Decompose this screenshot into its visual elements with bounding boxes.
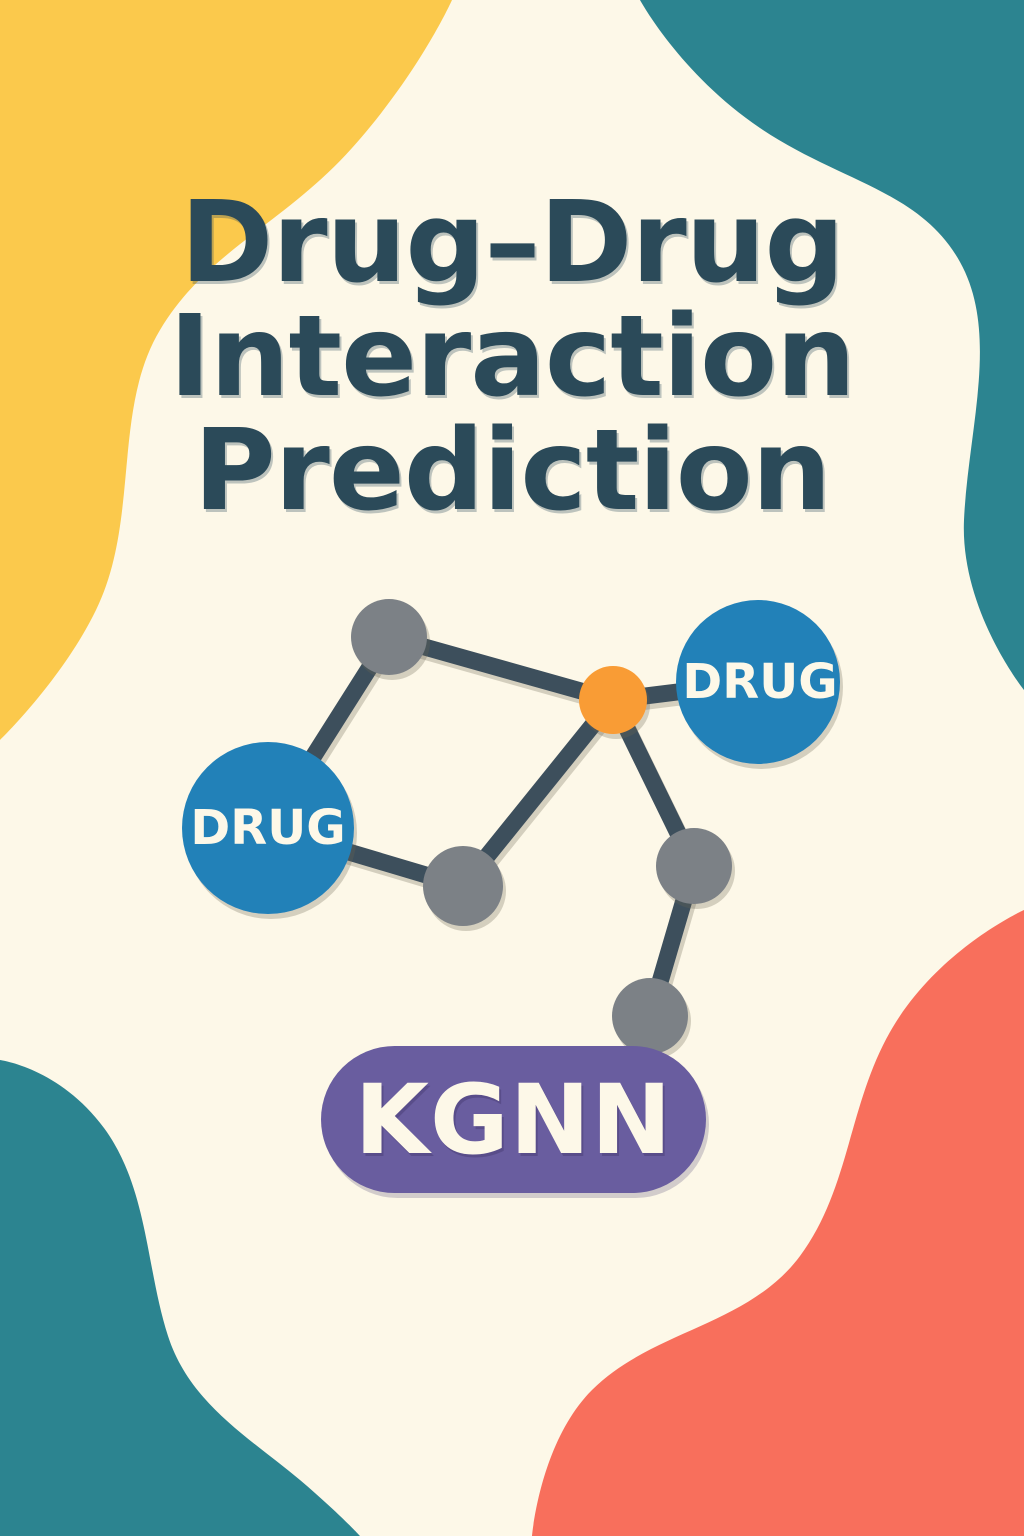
drug-node-left-label: DRUG	[190, 800, 345, 856]
poster-canvas: Drug–Drug Interaction Prediction	[0, 0, 1024, 1536]
entity-node-lower-left[interactable]	[423, 846, 503, 926]
entity-node-right[interactable]	[656, 828, 732, 904]
kgnn-badge[interactable]: KGNN	[321, 1046, 706, 1193]
drug-node-right-label: DRUG	[682, 654, 837, 710]
hub-node-center[interactable]	[579, 666, 647, 734]
entity-node-bottom[interactable]	[612, 978, 688, 1054]
kgnn-badge-label: KGNN	[355, 1072, 673, 1168]
entity-node-top-left[interactable]	[351, 599, 427, 675]
